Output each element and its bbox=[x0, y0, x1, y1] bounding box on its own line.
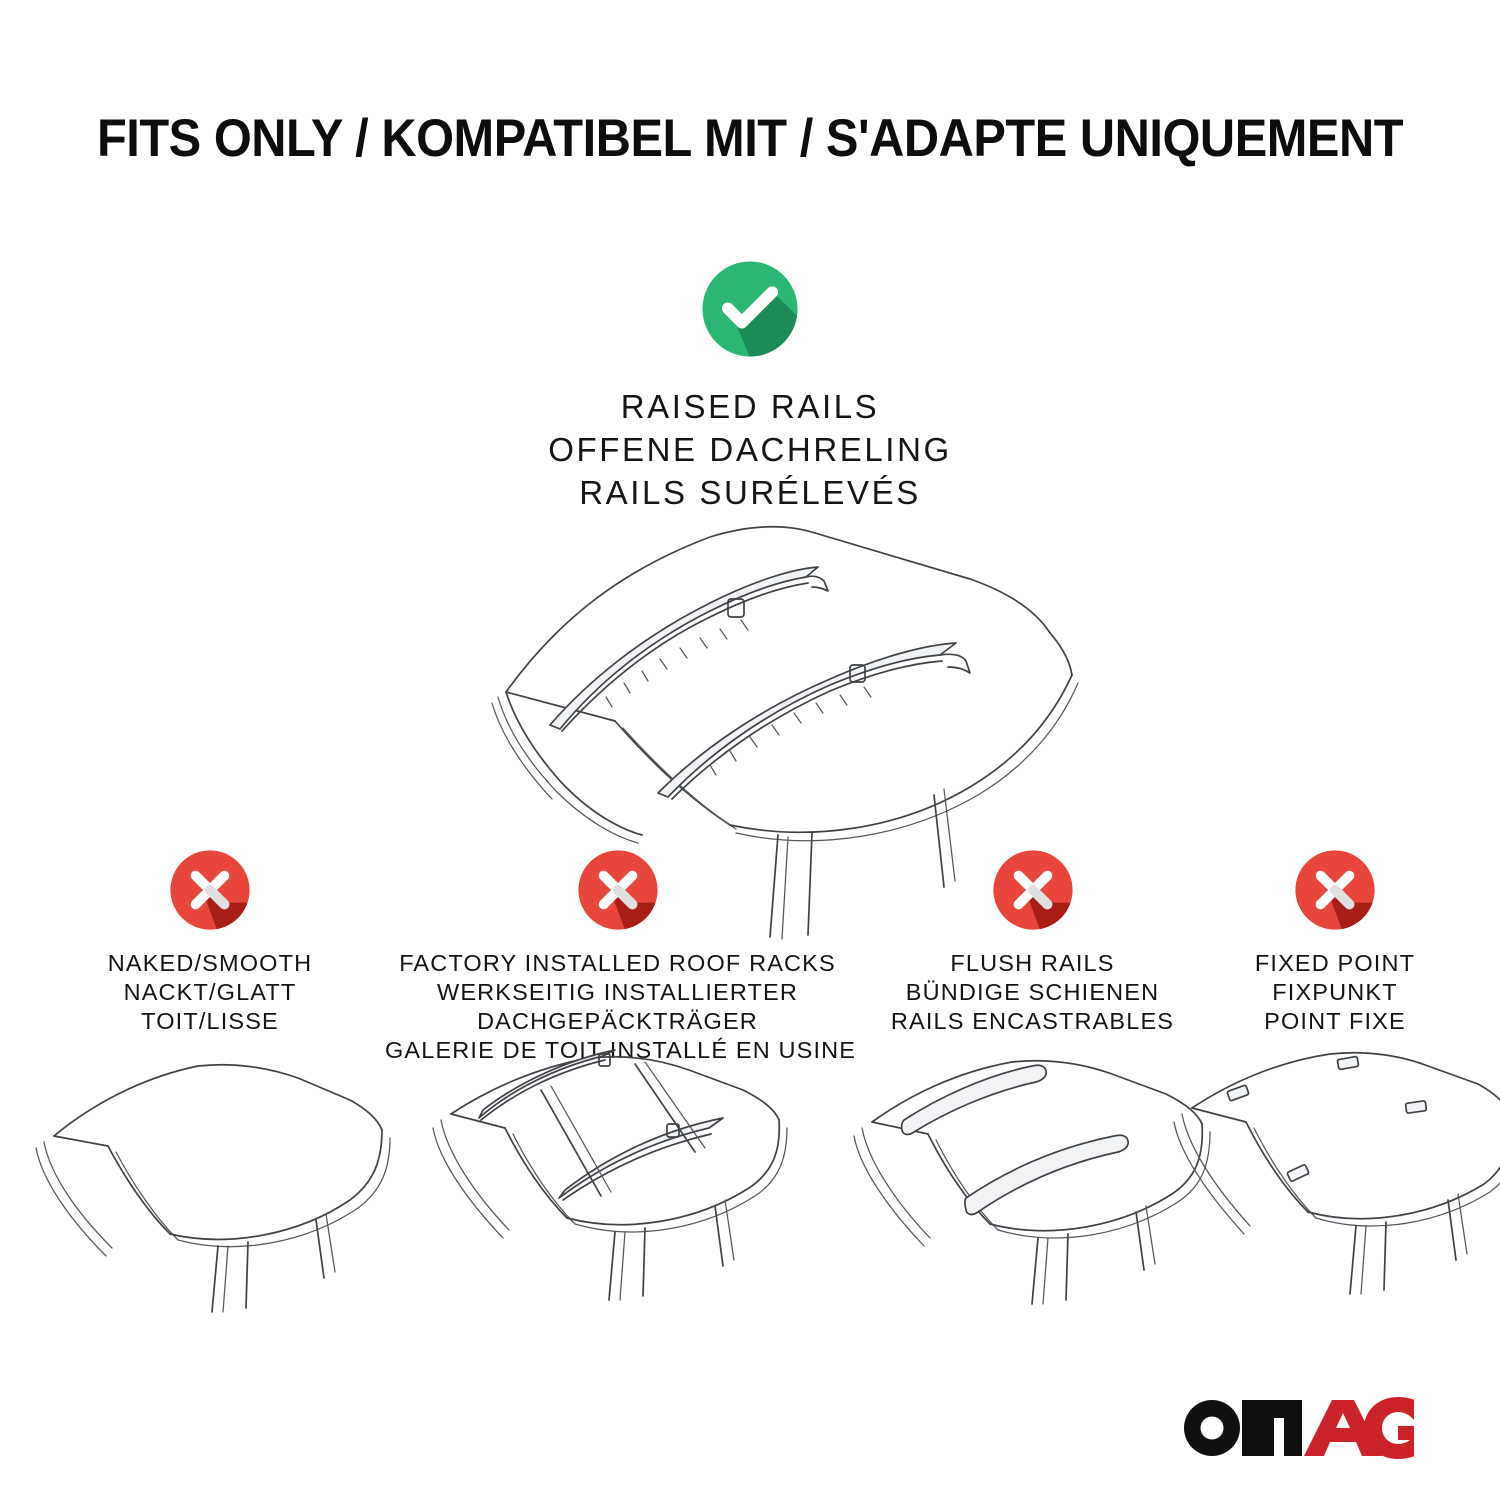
label-line-de: NACKT/GLATT bbox=[35, 978, 385, 1007]
label-line-de: BÜNDIGE SCHIENEN bbox=[855, 978, 1210, 1007]
label-line-en: NAKED/SMOOTH bbox=[35, 949, 385, 978]
compatible-label-de: OFFENE DACHRELING bbox=[0, 428, 1500, 471]
label-line-de: FIXPUNKT bbox=[1205, 978, 1465, 1007]
x-circle-icon bbox=[573, 845, 663, 935]
omac-logo bbox=[1178, 1384, 1428, 1458]
car-roof-fixed-point-illustration bbox=[1170, 1050, 1500, 1280]
page-title: FITS ONLY / KOMPATIBEL MIT / S'ADAPTE UN… bbox=[60, 108, 1440, 169]
compatible-labels: RAISED RAILS OFFENE DACHRELING RAILS SUR… bbox=[0, 385, 1500, 514]
compatible-section: RAISED RAILS OFFENE DACHRELING RAILS SUR… bbox=[0, 255, 1500, 514]
incompatible-item-factory-roof-racks: FACTORY INSTALLED ROOF RACKS WERKSEITIG … bbox=[385, 845, 850, 1065]
incompatible-item-naked-smooth: NAKED/SMOOTH NACKT/GLATT TOIT/LISSE bbox=[35, 845, 385, 1036]
incompatible-labels: FLUSH RAILS BÜNDIGE SCHIENEN RAILS ENCAS… bbox=[855, 949, 1210, 1036]
label-line-en: FLUSH RAILS bbox=[855, 949, 1210, 978]
car-roof-factory-roof-rack-illustration bbox=[423, 1050, 813, 1280]
incompatible-labels: FACTORY INSTALLED ROOF RACKS WERKSEITIG … bbox=[385, 949, 850, 1065]
label-line-de-1: WERKSEITIG INSTALLIERTER bbox=[385, 978, 850, 1007]
x-circle-icon bbox=[1290, 845, 1380, 935]
label-line-en: FACTORY INSTALLED ROOF RACKS bbox=[385, 949, 850, 978]
car-roof-naked-smooth-illustration bbox=[30, 1050, 390, 1280]
label-line-de-2: DACHGEPÄCKTRÄGER bbox=[385, 1007, 850, 1036]
incompatible-labels: NAKED/SMOOTH NACKT/GLATT TOIT/LISSE bbox=[35, 949, 385, 1036]
x-circle-icon bbox=[165, 845, 255, 935]
incompatible-item-fixed-point: FIXED POINT FIXPUNKT POINT FIXE bbox=[1205, 845, 1465, 1036]
car-roof-with-raised-rails-illustration bbox=[410, 507, 1090, 837]
label-line-en: FIXED POINT bbox=[1205, 949, 1465, 978]
label-line-fr: TOIT/LISSE bbox=[35, 1007, 385, 1036]
incompatible-labels: FIXED POINT FIXPUNKT POINT FIXE bbox=[1205, 949, 1465, 1036]
incompatible-section: NAKED/SMOOTH NACKT/GLATT TOIT/LISSE bbox=[0, 845, 1500, 1445]
fitment-infographic: FITS ONLY / KOMPATIBEL MIT / S'ADAPTE UN… bbox=[0, 0, 1500, 1500]
label-line-fr: RAILS ENCASTRABLES bbox=[855, 1007, 1210, 1036]
label-line-fr: POINT FIXE bbox=[1205, 1007, 1465, 1036]
check-circle-icon bbox=[696, 255, 804, 363]
x-circle-icon bbox=[988, 845, 1078, 935]
car-roof-flush-rails-illustration bbox=[848, 1050, 1218, 1280]
incompatible-item-flush-rails: FLUSH RAILS BÜNDIGE SCHIENEN RAILS ENCAS… bbox=[855, 845, 1210, 1036]
compatible-label-en: RAISED RAILS bbox=[0, 385, 1500, 428]
